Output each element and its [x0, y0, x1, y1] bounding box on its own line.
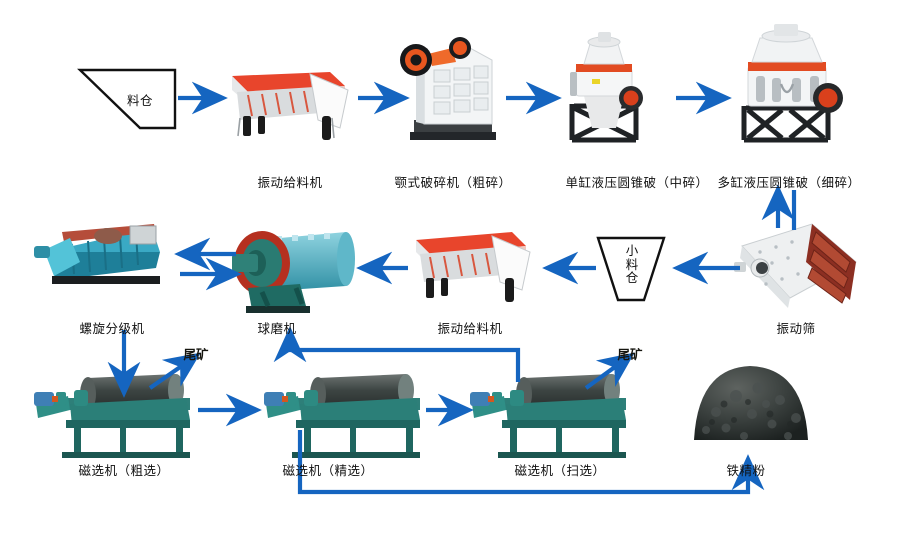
vibrating-feeder-graphic — [232, 72, 348, 140]
magnetic-separator-rougher-label: 磁选机（粗选） — [78, 460, 169, 479]
tailings-scavenger-label: 尾矿 — [617, 344, 642, 363]
iron-concentrate-powder-label: 铁精粉 — [726, 460, 765, 479]
vibrating-screen-label: 振动筛 — [776, 318, 815, 337]
vibrating-screen-graphic — [734, 224, 856, 308]
magnetic-separator-scavenger-label: 磁选机（扫选） — [514, 460, 605, 479]
raw-ore-hopper-label: 料仓 — [127, 90, 153, 109]
magnetic-separator-scavenger-graphic — [470, 374, 626, 458]
small-hopper-label: 小料仓 — [624, 244, 640, 285]
magnetic-separator-cleaner-graphic — [264, 374, 420, 458]
magnetic-separator-rougher-graphic — [34, 374, 190, 458]
multi-cylinder-cone-crusher-fine-label: 多缸液压圆锥破（细碎） — [717, 172, 860, 191]
vibrating-feeder-label: 振动给料机 — [257, 172, 322, 191]
single-cylinder-cone-crusher-graphic — [570, 32, 643, 140]
jaw-crusher-graphic — [400, 37, 496, 140]
row2-arrows — [180, 190, 794, 274]
spiral-classifier-label: 螺旋分级机 — [79, 318, 144, 337]
vibrating-feeder-2-label: 振动给料机 — [437, 318, 502, 337]
tailings-rougher-label: 尾矿 — [183, 344, 208, 363]
process-flow-diagram: 料仓 小料仓 振动给料机 颚式破碎机（粗碎） 单缸液压圆锥破（中碎） 多缸液压圆… — [0, 0, 900, 560]
spiral-classifier-graphic — [34, 224, 160, 284]
jaw-crusher-coarse-label: 颚式破碎机（粗碎） — [394, 172, 511, 191]
iron-concentrate-pile-graphic — [694, 366, 808, 440]
magnetic-separator-cleaner-label: 磁选机（精选） — [282, 460, 373, 479]
ball-mill-graphic — [232, 231, 355, 313]
row3-arrows — [124, 330, 748, 492]
multi-cylinder-cone-crusher-graphic — [744, 24, 843, 140]
vibrating-feeder-2-graphic — [416, 232, 530, 302]
single-cylinder-cone-crusher-medium-label: 单缸液压圆锥破（中碎） — [565, 172, 708, 191]
ball-mill-label: 球磨机 — [257, 318, 296, 337]
